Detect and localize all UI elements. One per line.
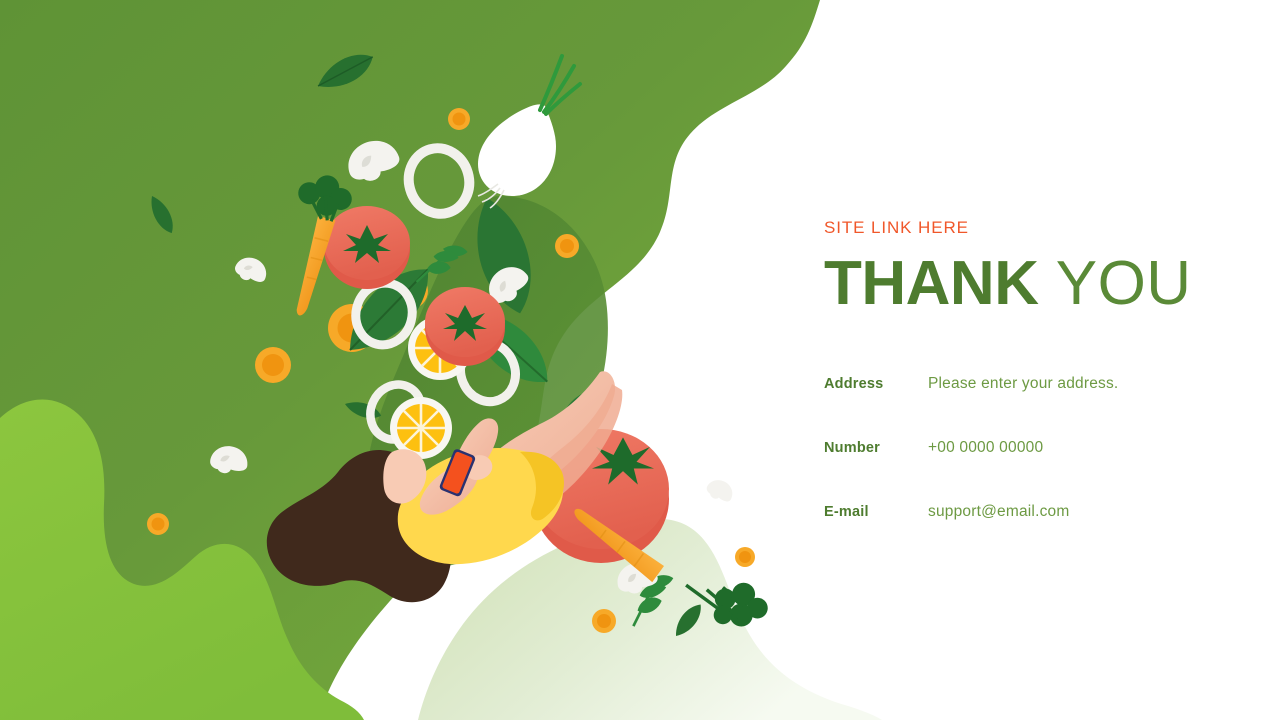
orange-coin-icon	[592, 609, 616, 633]
contact-value-address[interactable]: Please enter your address.	[928, 375, 1118, 393]
contact-value-number[interactable]: +00 0000 00000	[928, 439, 1043, 457]
orange-coin-icon	[255, 347, 291, 383]
contact-label-email: E-mail	[824, 504, 928, 520]
background-illustration	[0, 0, 1280, 720]
thank-you-slide: SITE LINK HERE THANK YOU Address Please …	[0, 0, 1280, 720]
page-title: THANK YOU	[824, 252, 1244, 316]
contact-row-address: Address Please enter your address.	[824, 375, 1244, 439]
contact-row-email: E-mail support@email.com	[824, 503, 1244, 567]
contact-details: Address Please enter your address. Numbe…	[824, 375, 1244, 567]
orange-coin-icon	[555, 234, 579, 258]
orange-coin-icon	[448, 108, 470, 130]
site-link-text[interactable]: SITE LINK HERE	[824, 218, 1244, 238]
orange-coin-icon	[735, 547, 755, 567]
contact-row-number: Number +00 0000 00000	[824, 439, 1244, 503]
tomato-icon	[324, 206, 410, 289]
headline-block: SITE LINK HERE THANK YOU	[824, 218, 1244, 317]
tomato-icon	[425, 287, 505, 366]
page-title-bold: THANK	[824, 249, 1038, 318]
page-title-light: YOU	[1056, 249, 1192, 318]
contact-label-address: Address	[824, 376, 928, 392]
contact-label-number: Number	[824, 440, 928, 456]
contact-value-email[interactable]: support@email.com	[928, 503, 1069, 521]
orange-coin-icon	[147, 513, 169, 535]
